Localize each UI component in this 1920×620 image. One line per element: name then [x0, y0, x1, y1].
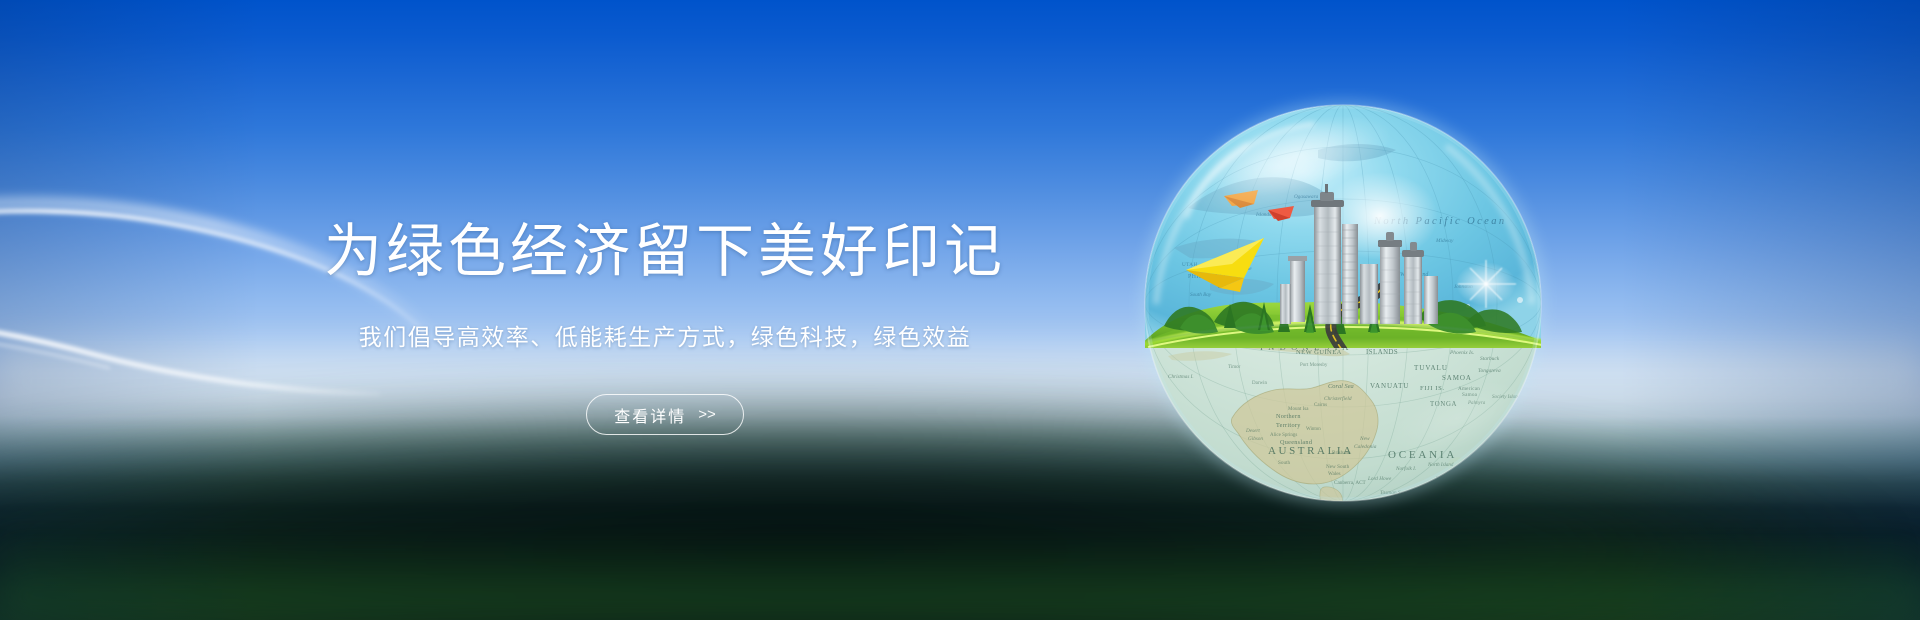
svg-text:Coral Sea: Coral Sea: [1328, 383, 1354, 390]
svg-text:ISLANDS: ISLANDS: [1366, 349, 1398, 356]
page-title: 为绿色经济留下美好印记: [324, 222, 1006, 283]
svg-text:Phoenix Is.: Phoenix Is.: [1449, 350, 1474, 356]
svg-text:Tongareva: Tongareva: [1478, 368, 1501, 374]
svg-text:Canberra, ACT: Canberra, ACT: [1334, 480, 1367, 486]
vignette-right: [1620, 0, 1920, 620]
svg-text:Lord Howe: Lord Howe: [1367, 476, 1392, 482]
svg-text:New: New: [1359, 436, 1370, 442]
svg-text:Caledonia: Caledonia: [1354, 444, 1377, 450]
hero-banner: I N D O N E S I A PAPUA NEW GUINEA SOLOM…: [0, 0, 1920, 620]
view-details-label: 查看详情: [614, 403, 686, 427]
svg-text:Midway: Midway: [1435, 238, 1454, 244]
svg-text:VANUATU: VANUATU: [1370, 382, 1409, 390]
svg-text:South Island: South Island: [1428, 491, 1454, 496]
chevron-right-icon: >>: [698, 406, 716, 423]
svg-text:FIJI IS.: FIJI IS.: [1420, 385, 1445, 392]
view-details-button[interactable]: 查看详情 >>: [586, 394, 744, 435]
svg-text:Norfolk I.: Norfolk I.: [1395, 465, 1416, 472]
svg-text:Brisbane: Brisbane: [1332, 450, 1351, 456]
svg-text:SAMOA: SAMOA: [1442, 374, 1472, 382]
svg-text:TUVALU: TUVALU: [1414, 364, 1448, 372]
svg-text:Starbuck: Starbuck: [1480, 356, 1500, 362]
banner-subtitle: 我们倡导高效率、低能耗生产方式，绿色科技，绿色效益: [359, 321, 972, 353]
banner-copy: 为绿色经济留下美好印记 我们倡导高效率、低能耗生产方式，绿色科技，绿色效益 查看…: [0, 0, 1330, 620]
